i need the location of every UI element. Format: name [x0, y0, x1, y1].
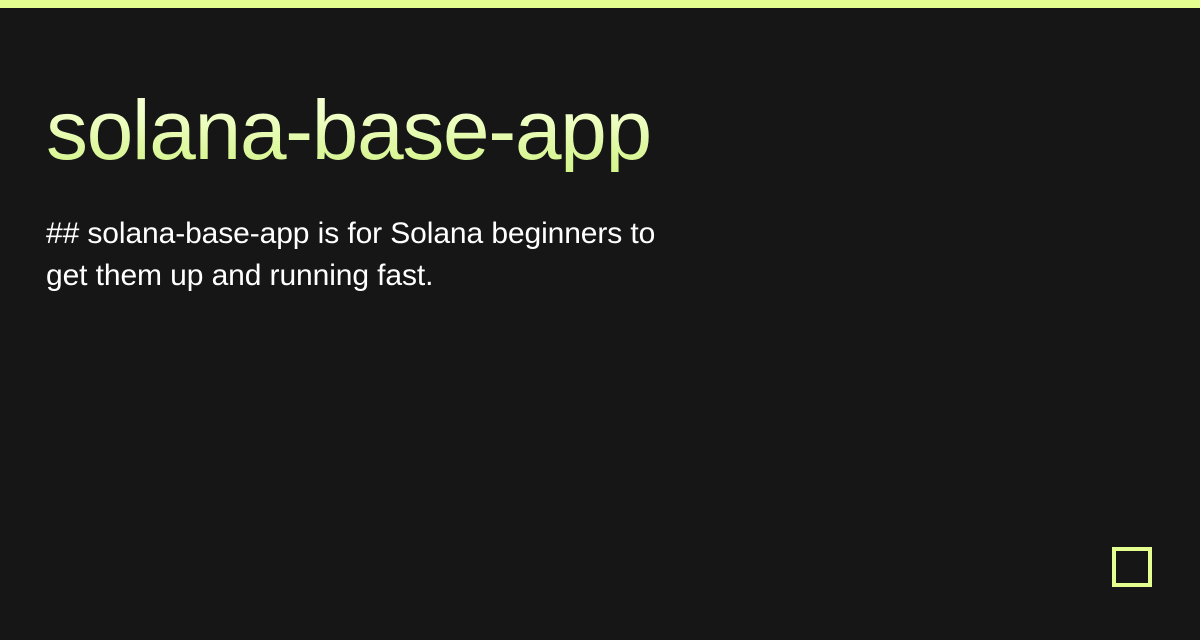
top-accent-stripe: [0, 0, 1200, 8]
square-outline-icon: [1112, 547, 1152, 587]
page-description: ## solana-base-app is for Solana beginne…: [46, 213, 866, 297]
page-title: solana-base-app: [46, 88, 651, 172]
description-line-1: ## solana-base-app is for Solana beginne…: [46, 213, 866, 255]
social-preview-card: solana-base-app ## solana-base-app is fo…: [0, 0, 1200, 640]
description-line-2: get them up and running fast.: [46, 255, 866, 297]
